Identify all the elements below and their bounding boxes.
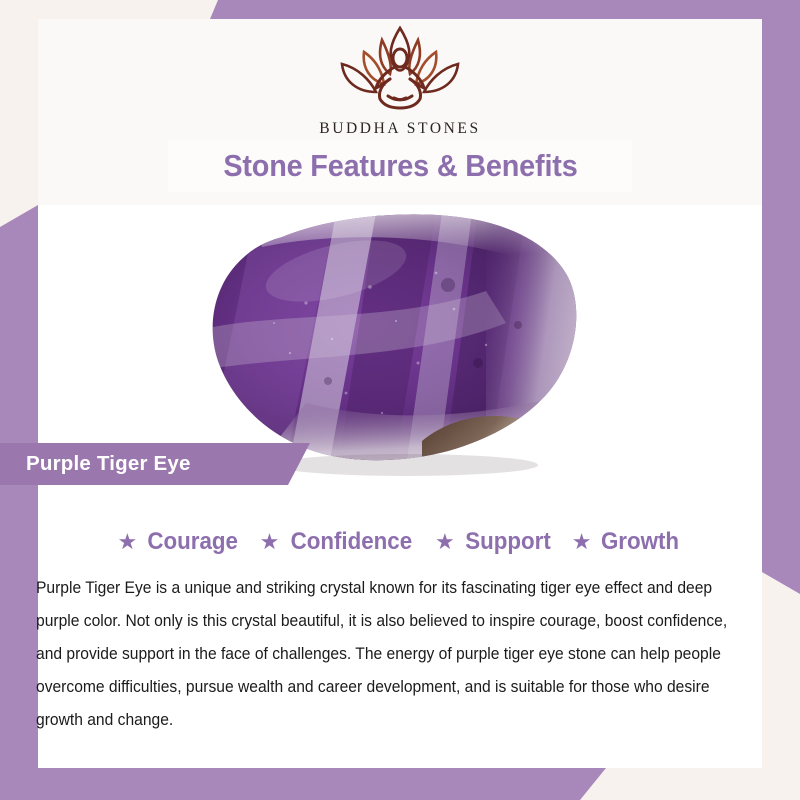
feature-list: ★ Courage ★ Confidence ★ Support ★ Growt… [38, 528, 762, 556]
feature-label: Confidence [291, 528, 413, 556]
feature-item-support: ★ Support [435, 528, 554, 556]
feature-label: Courage [148, 528, 239, 556]
feature-label: Growth [601, 528, 679, 556]
star-icon: ★ [118, 531, 138, 553]
brand-logo: BUDDHA STONES [0, 22, 800, 138]
product-info-card: BUDDHA STONES Stone Features & Benefits [0, 0, 800, 800]
feature-item-confidence: ★ Confidence [260, 528, 417, 556]
feature-item-growth: ★ Growth [572, 528, 683, 556]
frame-band-left [0, 205, 38, 800]
lotus-meditation-icon [320, 22, 480, 114]
star-icon: ★ [572, 531, 592, 553]
frame-band-bottom [0, 768, 606, 800]
frame-band-top [210, 0, 800, 19]
page-title: Stone Features & Benefits [223, 148, 577, 184]
star-icon: ★ [260, 531, 280, 553]
feature-label: Support [465, 528, 551, 556]
brand-name: BUDDHA STONES [319, 120, 480, 138]
title-banner: Stone Features & Benefits [168, 140, 632, 192]
star-icon: ★ [435, 531, 455, 553]
product-name: Purple Tiger Eye [26, 452, 191, 476]
product-image-purple-tiger-eye [186, 213, 616, 481]
feature-item-courage: ★ Courage [118, 528, 242, 556]
product-description: Purple Tiger Eye is a unique and strikin… [36, 572, 735, 737]
product-name-banner: Purple Tiger Eye [0, 443, 310, 485]
